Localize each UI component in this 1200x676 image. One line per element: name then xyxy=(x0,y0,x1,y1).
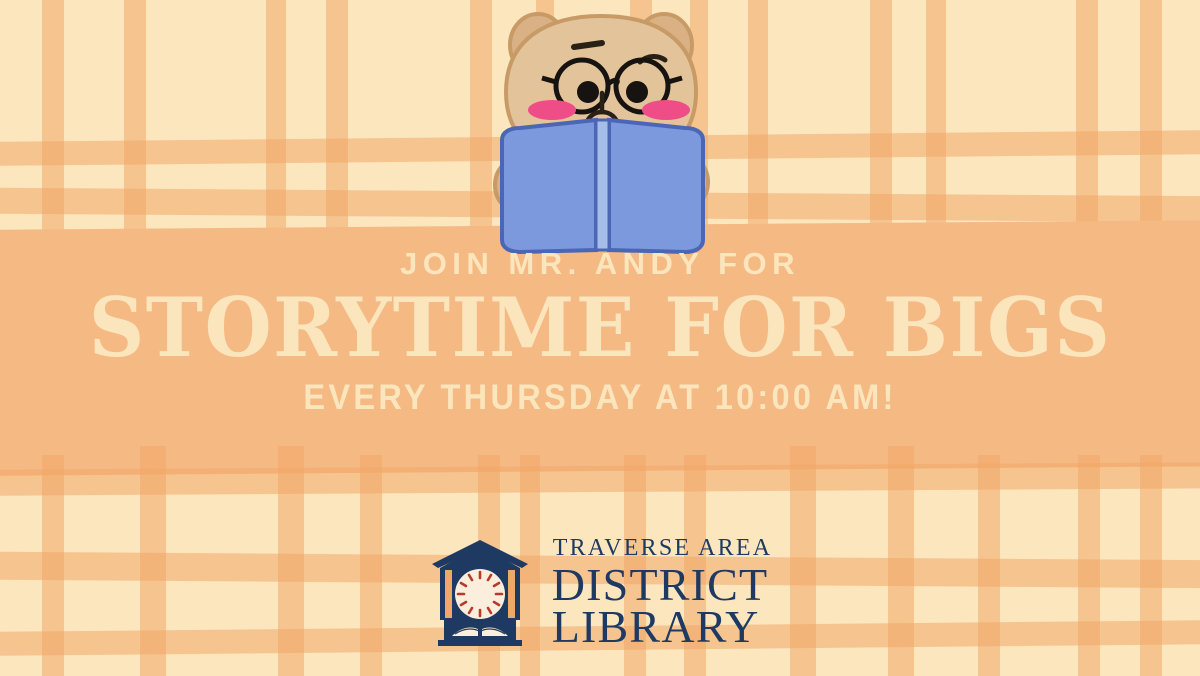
bear-eye-left xyxy=(577,81,599,103)
book-page-left xyxy=(502,120,596,252)
plaid-vertical-stripe xyxy=(470,0,492,240)
plaid-vertical-stripe xyxy=(1140,0,1162,240)
clock-tower-icon xyxy=(428,538,532,648)
book-page-right xyxy=(609,120,703,252)
plaid-vertical-stripe xyxy=(870,0,892,240)
plaid-vertical-stripe xyxy=(748,0,768,240)
poster-canvas: Join Mr. Andy for Storytime for Bigs Eve… xyxy=(0,0,1200,676)
schedule-text: Every Thursday at 10:00 AM! xyxy=(42,380,1158,415)
plaid-vertical-stripe xyxy=(1076,0,1098,240)
plaid-vertical-stripe xyxy=(266,0,286,240)
bear-reading-illustration xyxy=(490,0,715,255)
plaid-vertical-stripe xyxy=(124,0,146,240)
book-spine xyxy=(596,120,609,250)
plaid-vertical-stripe xyxy=(326,0,348,240)
plaid-vertical-stripe xyxy=(926,0,946,240)
logo-wordmark: Traverse Area District Library xyxy=(552,536,773,650)
eyebrow-text: Join Mr. Andy for xyxy=(0,248,1200,279)
logo-line-traverse-area: Traverse Area xyxy=(553,536,773,560)
bear-eyebrow-left xyxy=(574,43,602,47)
library-logo: Traverse Area District Library xyxy=(0,536,1200,650)
logo-line-library: Library xyxy=(552,604,760,650)
announcement-text: Join Mr. Andy for Storytime for Bigs Eve… xyxy=(0,248,1200,415)
bear-cheek-right xyxy=(642,100,690,120)
bear-cheek-left xyxy=(528,100,576,120)
plaid-vertical-stripe xyxy=(42,0,64,240)
page-title: Storytime for Bigs xyxy=(0,287,1200,370)
bear-eye-right xyxy=(626,81,648,103)
plaid-horizontal-stripe xyxy=(0,462,1200,496)
